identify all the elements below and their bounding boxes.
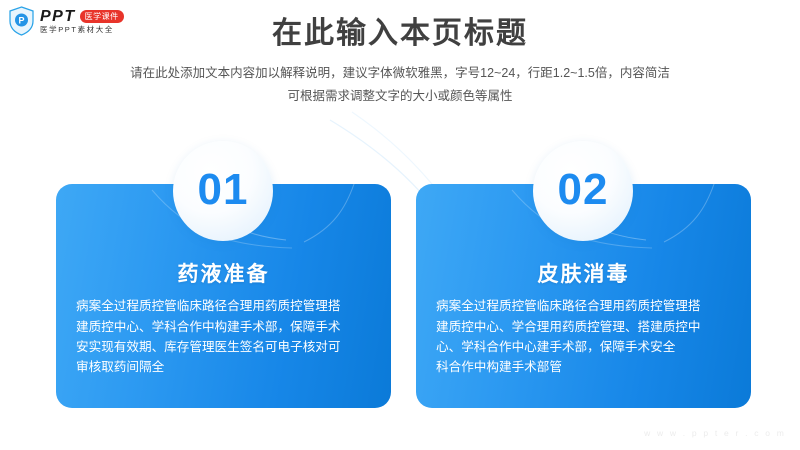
card-text-02: 病案全过程质控管临床路径合理用药质控管理搭 建质控中心、学合理用药质控管理、搭建… (430, 296, 737, 378)
card-text-line: 心、学科合作中心建手术部，保障手术安全 (436, 337, 731, 357)
card-text-line: 建质控中心、学合理用药质控管理、搭建质控中 (436, 317, 731, 337)
subtitle-line-1: 请在此处添加文本内容加以解释说明，建议字体微软雅黑，字号12~24，行距1.2~… (0, 62, 800, 85)
footer-watermark: w w w . p p t e r . c o m (644, 428, 786, 438)
card-text-01: 病案全过程质控管临床路径合理用药质控管理搭 建质控中心、学科合作中构建手术部，保… (70, 296, 377, 378)
card-title-02: 皮肤消毒 (430, 262, 737, 287)
card-text-line: 审核取药间隔全 (76, 357, 371, 377)
card-text-line: 病案全过程质控管临床路径合理用药质控管理搭 (76, 296, 371, 316)
card-text-line: 科合作中构建手术部管 (436, 357, 731, 377)
page-subtitle: 请在此处添加文本内容加以解释说明，建议字体微软雅黑，字号12~24，行距1.2~… (0, 62, 800, 108)
card-body-01: 药液准备 病案全过程质控管临床路径合理用药质控管理搭 建质控中心、学科合作中构建… (56, 262, 391, 378)
card-group: 药液准备 病案全过程质控管临床路径合理用药质控管理搭 建质控中心、学科合作中构建… (0, 184, 800, 409)
card-text-line: 病案全过程质控管临床路径合理用药质控管理搭 (436, 296, 731, 316)
card-text-line: 建质控中心、学科合作中构建手术部，保障手术 (76, 317, 371, 337)
number-badge-label: 02 (558, 168, 609, 212)
slide-canvas: P PPT 医学课件 医学PPT素材大全 在此输入本页标题 请在此处添加文本内容… (0, 0, 800, 450)
page-title: 在此输入本页标题 (0, 16, 800, 52)
card-text-line: 安实现有效期、库存管理医生签名可电子核对可 (76, 337, 371, 357)
subtitle-line-2: 可根据需求调整文字的大小或颜色等属性 (0, 85, 800, 108)
number-badge-02: 02 (533, 141, 633, 241)
card-title-01: 药液准备 (70, 262, 377, 287)
card-body-02: 皮肤消毒 病案全过程质控管临床路径合理用药质控管理搭 建质控中心、学合理用药质控… (416, 262, 751, 378)
number-badge-01: 01 (173, 141, 273, 241)
number-badge-label: 01 (198, 168, 249, 212)
